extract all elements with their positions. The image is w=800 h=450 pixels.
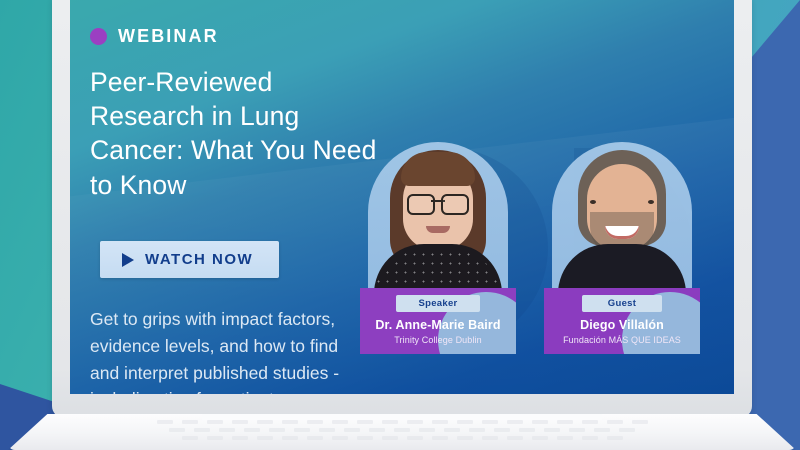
purple-dot-icon	[90, 28, 107, 45]
presenter-name-block: Speaker Dr. Anne-Marie Baird Trinity Col…	[360, 288, 516, 354]
eye-left	[590, 200, 596, 204]
laptop-screen: WEBINAR Peer-Reviewed Research in Lung C…	[70, 0, 734, 394]
eyebrow-label: WEBINAR	[118, 26, 219, 47]
laptop-mockup: WEBINAR Peer-Reviewed Research in Lung C…	[52, 0, 752, 450]
speaker-portrait	[360, 138, 516, 288]
torso-shape	[558, 244, 686, 288]
glasses-icon	[407, 194, 469, 211]
laptop-base	[8, 414, 796, 450]
presenter-name: Dr. Anne-Marie Baird	[360, 318, 516, 332]
presenter-organisation: Trinity College Dublin	[360, 335, 516, 345]
shirt-pattern	[374, 250, 502, 288]
eye-right	[648, 200, 654, 204]
presenter-name-block: Guest Diego Villalón Fundación MÁS QUE I…	[544, 288, 700, 354]
presenter-organisation: Fundación MÁS QUE IDEAS	[544, 335, 700, 345]
presenter-card-speaker: Speaker Dr. Anne-Marie Baird Trinity Col…	[360, 138, 516, 354]
status-badge: Speaker	[396, 295, 479, 312]
guest-portrait	[544, 138, 700, 288]
presenter-name: Diego Villalón	[544, 318, 700, 332]
promo-copy-column: WEBINAR Peer-Reviewed Research in Lung C…	[90, 0, 390, 394]
status-badge: Guest	[582, 295, 662, 312]
eyebrow-row: WEBINAR	[90, 26, 390, 47]
presenter-cards: Speaker Dr. Anne-Marie Baird Trinity Col…	[360, 138, 700, 354]
mouth-shape	[426, 226, 450, 233]
promo-description: Get to grips with impact factors, eviden…	[90, 306, 362, 394]
laptop-lid: WEBINAR Peer-Reviewed Research in Lung C…	[52, 0, 752, 418]
watch-now-label: WATCH NOW	[145, 251, 253, 268]
watch-now-button[interactable]: WATCH NOW	[100, 241, 279, 278]
hair-front-shape	[401, 152, 475, 186]
play-icon	[122, 253, 134, 267]
page-title: Peer-Reviewed Research in Lung Cancer: W…	[90, 65, 390, 202]
laptop-keyboard	[8, 420, 796, 446]
presenter-card-guest: Guest Diego Villalón Fundación MÁS QUE I…	[544, 138, 700, 354]
